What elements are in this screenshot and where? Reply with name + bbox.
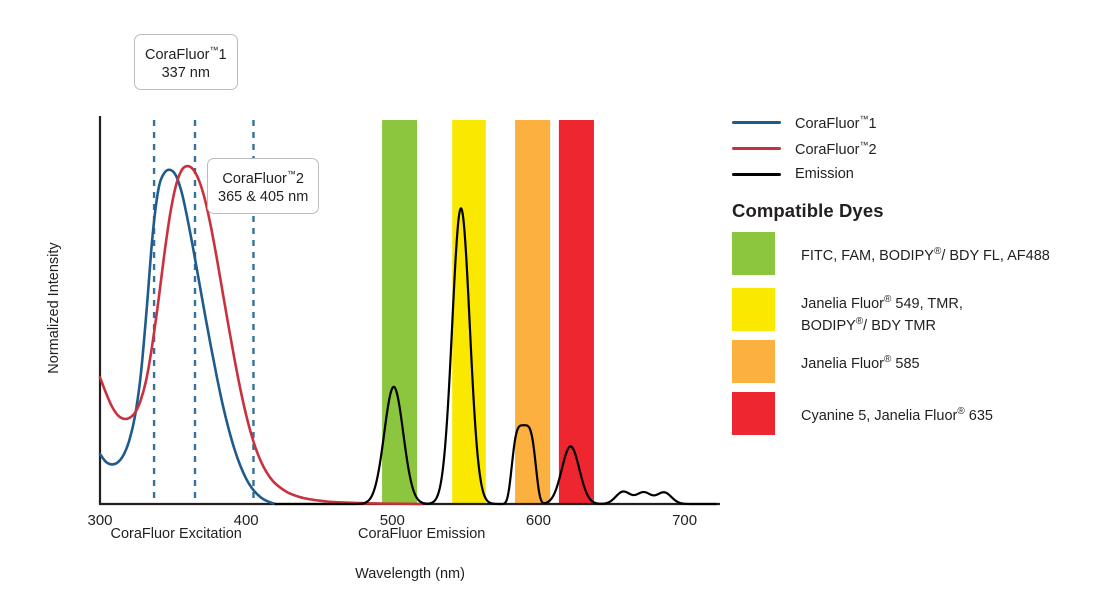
dye-row-3: Janelia Fluor® 585 (732, 340, 920, 383)
callout-cf2-line2: 365 & 405 nm (218, 188, 308, 206)
callout-corafluor2: CoraFluor™2 365 & 405 nm (207, 158, 319, 214)
plot-area: CoraFluor™1 337 nm CoraFluor™2 365 & 405… (0, 0, 730, 612)
callout-cf1-suffix: 1 (218, 47, 226, 63)
legend-line-row-1: CoraFluor™1 (732, 114, 877, 132)
callout-cf1-line1: CoraFluor™1 (145, 41, 227, 64)
x-sublabel-excitation: CoraFluor Excitation (110, 526, 241, 542)
legend-line-label: CoraFluor™1 (795, 114, 877, 132)
dye-label: FITC, FAM, BODIPY®/ BDY FL, AF488 (801, 232, 1050, 265)
dye-color-swatch (732, 392, 775, 435)
curve-corafluor2 (100, 166, 422, 504)
legend-line-swatch (732, 147, 781, 150)
dye-color-swatch (732, 340, 775, 383)
x-axis-title: Wavelength (nm) (0, 566, 820, 582)
x-tick-700: 700 (655, 512, 715, 529)
dye-label: Janelia Fluor® 585 (801, 340, 920, 373)
dye-color-swatch (732, 288, 775, 331)
dye-row-1: FITC, FAM, BODIPY®/ BDY FL, AF488 (732, 232, 1050, 275)
dye-row-4: Cyanine 5, Janelia Fluor® 635 (732, 392, 993, 435)
red-band (559, 120, 594, 504)
callout-cf2-line1: CoraFluor™2 (218, 165, 308, 188)
legend-line-label: Emission (795, 166, 854, 182)
callout-cf2-suffix: 2 (296, 171, 304, 187)
green-band (382, 120, 417, 504)
dye-label: Cyanine 5, Janelia Fluor® 635 (801, 392, 993, 425)
curve-corafluor1 (100, 170, 275, 504)
x-sublabel-emission: CoraFluor Emission (358, 526, 485, 542)
chart-page: CoraFluor™1 337 nm CoraFluor™2 365 & 405… (0, 0, 1110, 612)
dye-label: Janelia Fluor® 549, TMR, BODIPY®/ BDY TM… (801, 288, 963, 336)
y-axis-title: Normalized Intensity (46, 208, 62, 408)
dye-color-swatch (732, 232, 775, 275)
curve-emission (275, 208, 716, 504)
callout-cf2-name: CoraFluor (222, 171, 286, 187)
callout-corafluor1: CoraFluor™1 337 nm (134, 34, 238, 90)
callout-cf1-name: CoraFluor (145, 47, 209, 63)
dye-row-2: Janelia Fluor® 549, TMR, BODIPY®/ BDY TM… (732, 288, 963, 336)
legend-line-row-2: CoraFluor™2 (732, 140, 877, 158)
trademark-icon: ™ (287, 169, 296, 179)
compatible-dyes-heading: Compatible Dyes (732, 200, 884, 222)
legend-panel: CoraFluor™1CoraFluor™2Emission Compatibl… (728, 0, 1110, 612)
legend-line-swatch (732, 173, 781, 176)
callout-cf1-line2: 337 nm (145, 64, 227, 82)
x-tick-600: 600 (508, 512, 568, 529)
legend-line-label: CoraFluor™2 (795, 140, 877, 158)
legend-line-swatch (732, 121, 781, 124)
legend-line-row-3: Emission (732, 166, 854, 182)
